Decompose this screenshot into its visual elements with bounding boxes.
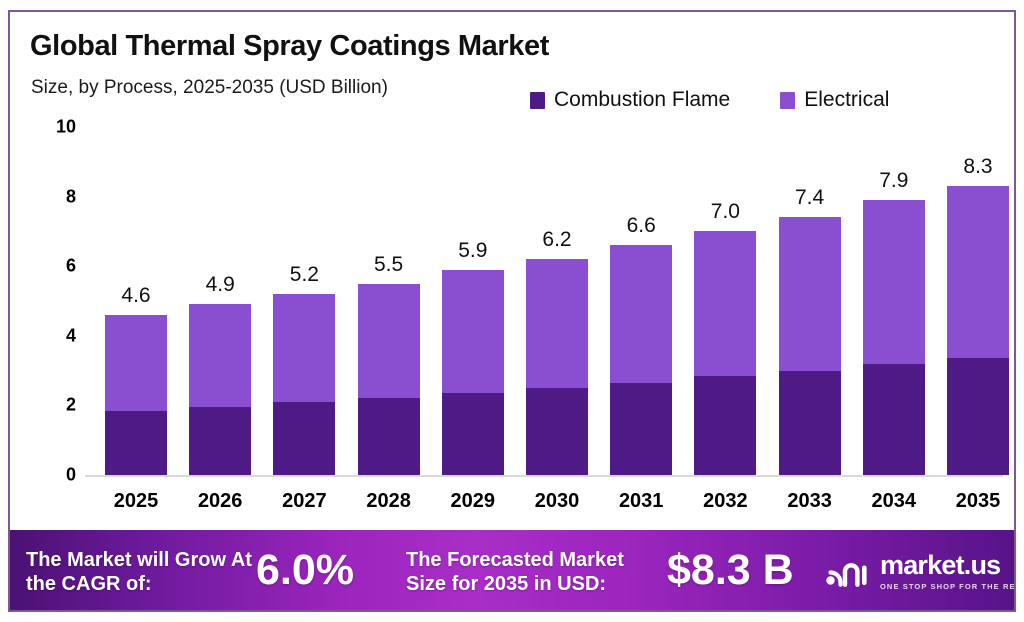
summary-banner: The Market will Grow At the CAGR of: 6.0…	[10, 530, 1016, 610]
bar-column-2029[interactable]: 5.9	[442, 270, 504, 475]
bar-column-2034[interactable]: 7.9	[863, 200, 925, 475]
bar-series-group: 4.620254.920265.220275.520285.920296.220…	[10, 12, 1016, 612]
bar-column-2032[interactable]: 7.0	[694, 231, 756, 475]
bar-segment-combustion-flame[interactable]	[442, 393, 504, 475]
bar-segment-electrical[interactable]	[947, 186, 1009, 358]
bar-column-2028[interactable]: 5.5	[358, 284, 420, 475]
x-axis-tick-label: 2028	[347, 490, 431, 513]
bar-segment-combustion-flame[interactable]	[610, 383, 672, 475]
bar-value-label: 5.2	[290, 263, 319, 287]
bar-segment-combustion-flame[interactable]	[189, 407, 251, 475]
x-axis-tick-label: 2031	[599, 490, 683, 513]
bar-segment-combustion-flame[interactable]	[526, 388, 588, 475]
bar-segment-combustion-flame[interactable]	[694, 376, 756, 475]
x-axis-tick-label: 2033	[768, 490, 852, 513]
market-us-logo[interactable]: market.us ONE STOP SHOP FOR THE REPORTS	[825, 552, 1016, 591]
bar-segment-electrical[interactable]	[442, 270, 504, 394]
bar-value-label: 5.5	[374, 253, 403, 277]
bar-column-2031[interactable]: 6.6	[610, 245, 672, 475]
forecast-value: $8.3 B	[667, 544, 794, 596]
x-axis-tick-label: 2032	[683, 490, 767, 513]
bar-value-label: 7.0	[711, 200, 740, 224]
bar-segment-combustion-flame[interactable]	[358, 398, 420, 475]
chart-infographic: Global Thermal Spray Coatings Market Siz…	[0, 0, 1024, 622]
bar-segment-combustion-flame[interactable]	[863, 364, 925, 475]
bar-value-label: 8.3	[963, 155, 992, 179]
bar-value-label: 6.2	[542, 228, 571, 252]
bar-segment-electrical[interactable]	[863, 200, 925, 364]
x-axis-tick-label: 2030	[515, 490, 599, 513]
bar-segment-electrical[interactable]	[273, 294, 335, 402]
bar-segment-electrical[interactable]	[358, 284, 420, 399]
x-axis-tick-label: 2026	[178, 490, 262, 513]
bar-segment-combustion-flame[interactable]	[273, 402, 335, 475]
market-us-logo-icon	[825, 555, 871, 589]
x-axis-tick-label: 2035	[936, 490, 1016, 513]
chart-card: Global Thermal Spray Coatings Market Siz…	[8, 10, 1016, 612]
bar-value-label: 7.4	[795, 186, 824, 210]
chart-plot-area: 0246810 4.620254.920265.220275.520285.92…	[10, 12, 1016, 612]
bar-segment-electrical[interactable]	[105, 315, 167, 411]
bar-segment-combustion-flame[interactable]	[779, 371, 841, 475]
bar-segment-electrical[interactable]	[694, 231, 756, 375]
cagr-value: 6.0%	[256, 544, 354, 596]
x-axis-tick-label: 2027	[262, 490, 346, 513]
bar-segment-electrical[interactable]	[610, 245, 672, 382]
bar-value-label: 4.9	[206, 273, 235, 297]
x-axis-tick-label: 2029	[431, 490, 515, 513]
bar-value-label: 7.9	[879, 169, 908, 193]
bar-column-2026[interactable]: 4.9	[189, 304, 251, 475]
bar-column-2027[interactable]: 5.2	[273, 294, 335, 475]
bar-column-2030[interactable]: 6.2	[526, 259, 588, 475]
bar-column-2033[interactable]: 7.4	[779, 217, 841, 475]
bar-value-label: 4.6	[121, 284, 150, 308]
bar-segment-combustion-flame[interactable]	[105, 411, 167, 475]
bar-segment-electrical[interactable]	[526, 259, 588, 388]
bar-value-label: 5.9	[458, 239, 487, 263]
bar-segment-combustion-flame[interactable]	[947, 358, 1009, 475]
logo-tagline: ONE STOP SHOP FOR THE REPORTS	[880, 582, 1016, 591]
forecast-label: The Forecasted Market Size for 2035 in U…	[406, 548, 666, 597]
bar-value-label: 6.6	[627, 214, 656, 238]
x-axis-tick-label: 2025	[94, 490, 178, 513]
bar-segment-electrical[interactable]	[779, 217, 841, 370]
bar-column-2025[interactable]: 4.6	[105, 315, 167, 475]
cagr-label: The Market will Grow At the CAGR of:	[26, 548, 256, 597]
x-axis-tick-label: 2034	[852, 490, 936, 513]
bar-column-2035[interactable]: 8.3	[947, 186, 1009, 475]
bar-segment-electrical[interactable]	[189, 304, 251, 407]
logo-name: market.us	[880, 552, 1016, 579]
logo-text-block: market.us ONE STOP SHOP FOR THE REPORTS	[880, 552, 1016, 591]
